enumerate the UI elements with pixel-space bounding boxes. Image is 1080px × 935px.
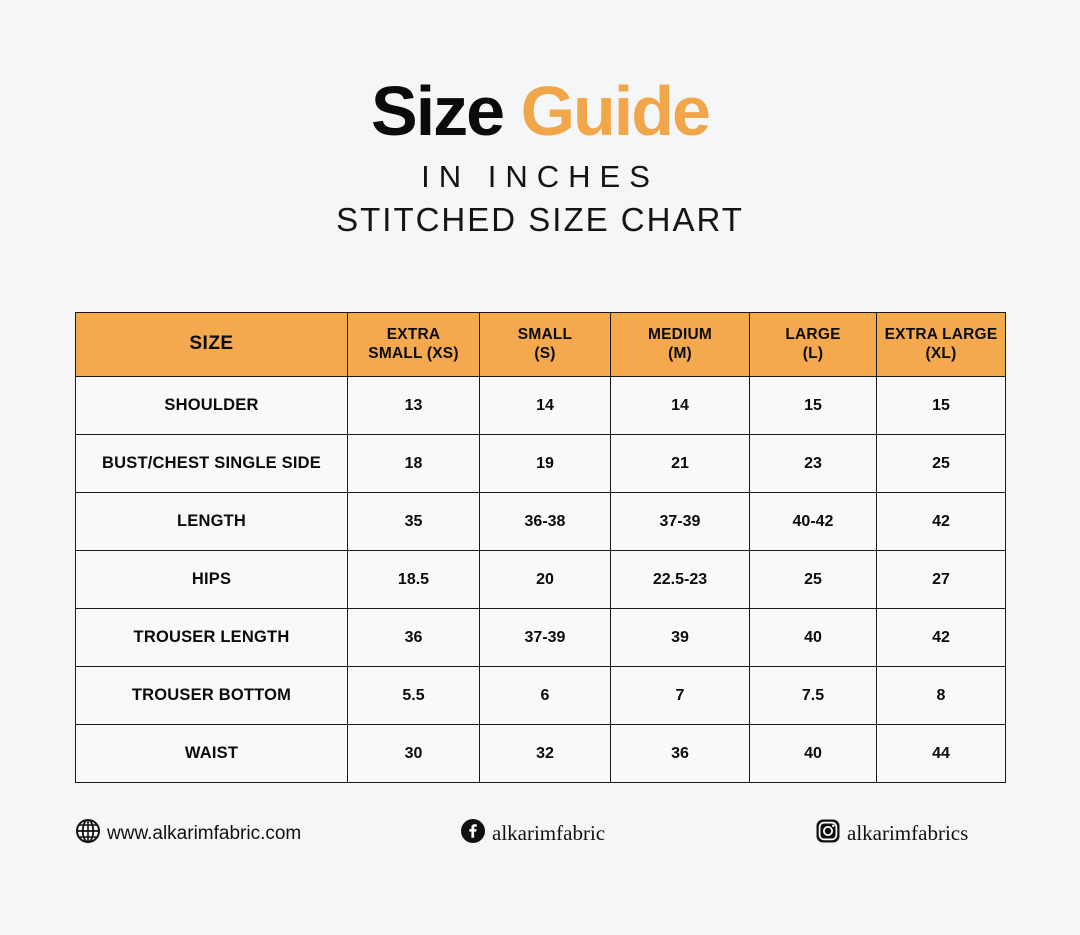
cell-l: 40 (750, 609, 877, 667)
cell-xl: 27 (877, 551, 1006, 609)
size-chart-table-wrapper: SIZE EXTRA SMALL (XS) SMALL (S) MEDIUM (… (75, 312, 1005, 783)
cell-s: 36-38 (480, 493, 611, 551)
subtitle-chart-type: STITCHED SIZE CHART (0, 201, 1080, 239)
size-guide-page: Size Guide IN INCHES STITCHED SIZE CHART… (0, 0, 1080, 935)
footer-facebook[interactable]: alkarimfabric (460, 818, 815, 849)
table-row: TROUSER BOTTOM5.5677.58 (76, 667, 1006, 725)
cell-m: 7 (611, 667, 750, 725)
table-row: LENGTH3536-3837-3940-4242 (76, 493, 1006, 551)
cell-s: 37-39 (480, 609, 611, 667)
cell-xs: 30 (348, 725, 480, 783)
instagram-handle: alkarimfabrics (847, 821, 968, 846)
column-header-xl-line2: (XL) (926, 345, 957, 362)
column-header-xl: EXTRA LARGE (XL) (877, 313, 1006, 377)
cell-xs: 35 (348, 493, 480, 551)
title-part-size: Size (371, 72, 503, 150)
cell-xl: 42 (877, 609, 1006, 667)
column-header-m-line1: MEDIUM (648, 326, 712, 343)
cell-s: 32 (480, 725, 611, 783)
cell-xs: 18.5 (348, 551, 480, 609)
table-body: SHOULDER1314141515BUST/CHEST SINGLE SIDE… (76, 377, 1006, 783)
row-label: HIPS (76, 551, 348, 609)
column-header-xs-line1: EXTRA (387, 326, 441, 343)
cell-xl: 42 (877, 493, 1006, 551)
column-header-l-line1: LARGE (785, 326, 840, 343)
column-header-l: LARGE (L) (750, 313, 877, 377)
cell-m: 22.5-23 (611, 551, 750, 609)
column-header-m: MEDIUM (M) (611, 313, 750, 377)
cell-xl: 8 (877, 667, 1006, 725)
size-chart-table: SIZE EXTRA SMALL (XS) SMALL (S) MEDIUM (… (75, 312, 1006, 783)
cell-l: 15 (750, 377, 877, 435)
cell-m: 36 (611, 725, 750, 783)
cell-l: 7.5 (750, 667, 877, 725)
footer: www.alkarimfabric.com alkarimfabric (75, 818, 1005, 849)
footer-instagram[interactable]: alkarimfabrics (815, 818, 1005, 849)
title-part-guide: Guide (521, 72, 709, 150)
row-label: TROUSER BOTTOM (76, 667, 348, 725)
cell-l: 25 (750, 551, 877, 609)
cell-l: 40 (750, 725, 877, 783)
page-header: Size Guide IN INCHES STITCHED SIZE CHART (0, 0, 1080, 239)
table-row: SHOULDER1314141515 (76, 377, 1006, 435)
cell-l: 40-42 (750, 493, 877, 551)
cell-m: 39 (611, 609, 750, 667)
website-url: www.alkarimfabric.com (107, 823, 301, 845)
table-header-row: SIZE EXTRA SMALL (XS) SMALL (S) MEDIUM (… (76, 313, 1006, 377)
cell-xl: 44 (877, 725, 1006, 783)
row-label: WAIST (76, 725, 348, 783)
column-header-s: SMALL (S) (480, 313, 611, 377)
table-row: HIPS18.52022.5-232527 (76, 551, 1006, 609)
cell-xs: 13 (348, 377, 480, 435)
cell-xl: 25 (877, 435, 1006, 493)
cell-xs: 18 (348, 435, 480, 493)
cell-m: 14 (611, 377, 750, 435)
subtitle-units: IN INCHES (0, 159, 1080, 195)
cell-s: 6 (480, 667, 611, 725)
cell-xl: 15 (877, 377, 1006, 435)
facebook-icon (460, 818, 486, 849)
cell-s: 14 (480, 377, 611, 435)
row-label: BUST/CHEST SINGLE SIDE (76, 435, 348, 493)
facebook-handle: alkarimfabric (492, 821, 605, 846)
page-title: Size Guide (0, 78, 1080, 145)
cell-m: 37-39 (611, 493, 750, 551)
cell-xs: 5.5 (348, 667, 480, 725)
table-header: SIZE EXTRA SMALL (XS) SMALL (S) MEDIUM (… (76, 313, 1006, 377)
table-row: TROUSER LENGTH3637-39394042 (76, 609, 1006, 667)
row-label: SHOULDER (76, 377, 348, 435)
cell-xs: 36 (348, 609, 480, 667)
row-label: LENGTH (76, 493, 348, 551)
column-header-s-line2: (S) (534, 345, 555, 362)
column-header-xs-line2: SMALL (XS) (368, 345, 458, 362)
column-header-size: SIZE (76, 313, 348, 377)
column-header-l-line2: (L) (803, 345, 823, 362)
cell-s: 19 (480, 435, 611, 493)
table-row: BUST/CHEST SINGLE SIDE1819212325 (76, 435, 1006, 493)
column-header-m-line2: (M) (668, 345, 692, 362)
column-header-s-line1: SMALL (518, 326, 572, 343)
cell-s: 20 (480, 551, 611, 609)
cell-m: 21 (611, 435, 750, 493)
table-row: WAIST3032364044 (76, 725, 1006, 783)
footer-website[interactable]: www.alkarimfabric.com (75, 818, 460, 849)
row-label: TROUSER LENGTH (76, 609, 348, 667)
column-header-xl-line1: EXTRA LARGE (885, 326, 998, 343)
globe-icon (75, 818, 101, 849)
cell-l: 23 (750, 435, 877, 493)
instagram-icon (815, 818, 841, 849)
column-header-xs: EXTRA SMALL (XS) (348, 313, 480, 377)
